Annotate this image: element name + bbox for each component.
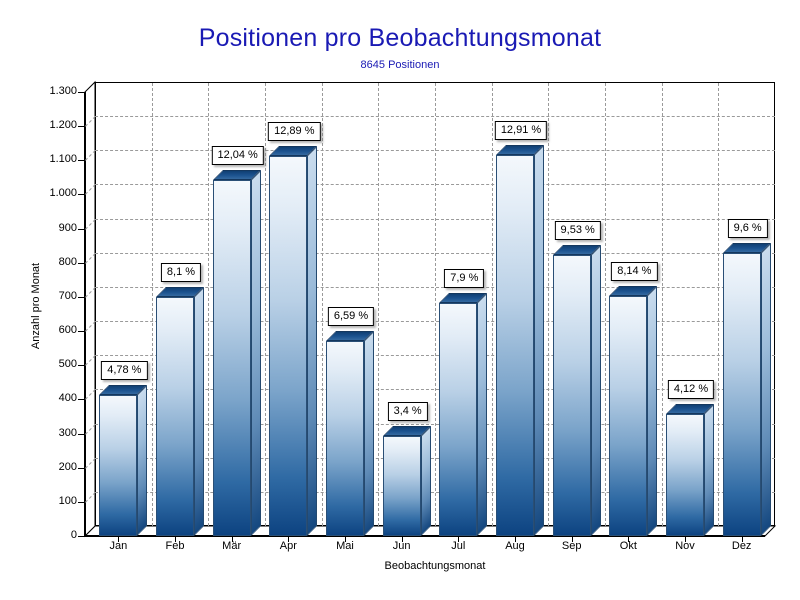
- bar-side-face: [534, 145, 544, 536]
- x-axis-tick-mark: [628, 537, 629, 542]
- bar[interactable]: [99, 395, 137, 536]
- y-axis-tick-mark: [78, 263, 85, 264]
- y-axis-tick-mark: [78, 536, 85, 537]
- x-axis-tick-mark: [685, 537, 686, 542]
- bar-side-face: [591, 245, 601, 536]
- y-axis-tick-mark: [78, 160, 85, 161]
- bar[interactable]: [156, 297, 194, 536]
- y-axis-tick-mark: [78, 468, 85, 469]
- bar-side-face: [364, 331, 374, 536]
- y-axis-tick-mark: [78, 92, 85, 93]
- y-axis-tick-mark: [78, 194, 85, 195]
- x-axis-tick-mark: [458, 537, 459, 542]
- bar-value-label: 8,1 %: [161, 263, 201, 282]
- bar-side-face: [307, 146, 317, 536]
- plot-area: 01002003004005006007008009001.0001.1001.…: [0, 0, 800, 600]
- bar-value-label: 9,6 %: [728, 219, 768, 238]
- bar-front-face: [439, 303, 477, 536]
- y-axis-tick-mark: [78, 331, 85, 332]
- bar-value-label: 9,53 %: [555, 221, 601, 240]
- y-axis-tick-label: 0: [25, 529, 77, 541]
- y-axis-tick-label: 1.000: [25, 187, 77, 199]
- bar[interactable]: [269, 156, 307, 536]
- y-axis-tick-label: 600: [25, 324, 77, 336]
- bar[interactable]: [213, 180, 251, 536]
- bar-front-face: [666, 414, 704, 536]
- y-axis-tick-mark: [78, 434, 85, 435]
- bar-front-face: [383, 436, 421, 536]
- bar[interactable]: [723, 253, 761, 536]
- gridline-vertical: [322, 83, 323, 526]
- bar-front-face: [723, 253, 761, 536]
- bar-front-face: [213, 180, 251, 536]
- bar-side-face: [761, 243, 771, 536]
- bar-side-face: [647, 286, 657, 536]
- y-axis-tick-label: 1.100: [25, 153, 77, 165]
- bar[interactable]: [553, 255, 591, 536]
- gridline-vertical: [378, 83, 379, 526]
- gridline-vertical: [662, 83, 663, 526]
- y-axis-tick-mark: [78, 297, 85, 298]
- bar-front-face: [609, 296, 647, 536]
- bar-value-label: 8,14 %: [611, 262, 657, 281]
- y-axis-tick-label: 1.300: [25, 85, 77, 97]
- bar-value-label: 12,04 %: [211, 146, 263, 165]
- y-axis-tick-label: 200: [25, 461, 77, 473]
- bar-front-face: [326, 341, 364, 536]
- y-axis-tick-label: 400: [25, 392, 77, 404]
- y-axis-tick-label: 800: [25, 256, 77, 268]
- y-axis-tick-mark: [78, 365, 85, 366]
- bar-front-face: [553, 255, 591, 536]
- y-axis-tick-mark: [78, 126, 85, 127]
- bar[interactable]: [439, 303, 477, 536]
- gridline-vertical: [548, 83, 549, 526]
- y-axis-tick-label: 900: [25, 222, 77, 234]
- x-axis-tick-mark: [515, 537, 516, 542]
- gridline-vertical: [492, 83, 493, 526]
- x-axis-tick-mark: [345, 537, 346, 542]
- chart-container: Positionen pro Beobachtungsmonat 8645 Po…: [0, 0, 800, 600]
- x-axis-tick-mark: [742, 537, 743, 542]
- bar-front-face: [99, 395, 137, 536]
- bar-front-face: [496, 155, 534, 536]
- y-axis-tick-label: 700: [25, 290, 77, 302]
- y-axis-tick-mark: [78, 502, 85, 503]
- y-axis-tick-label: 500: [25, 358, 77, 370]
- bar-side-face: [194, 287, 204, 536]
- x-axis-tick-mark: [288, 537, 289, 542]
- gridline-vertical: [208, 83, 209, 526]
- bar-value-label: 7,9 %: [444, 269, 484, 288]
- gridline-vertical: [152, 83, 153, 526]
- gridline-vertical: [435, 83, 436, 526]
- gridline-vertical: [605, 83, 606, 526]
- y-axis-tick-mark: [78, 229, 85, 230]
- bar-value-label: 4,12 %: [668, 380, 714, 399]
- bar[interactable]: [496, 155, 534, 536]
- bar[interactable]: [666, 414, 704, 536]
- bar[interactable]: [326, 341, 364, 536]
- x-axis-tick-mark: [175, 537, 176, 542]
- x-axis-tick-mark: [402, 537, 403, 542]
- bar-side-face: [704, 404, 714, 536]
- y-axis-tick-label: 100: [25, 495, 77, 507]
- bar-value-label: 6,59 %: [328, 307, 374, 326]
- bar-side-face: [477, 293, 487, 536]
- bar-value-label: 3,4 %: [388, 402, 428, 421]
- bar-side-face: [421, 426, 431, 536]
- bar-side-face: [137, 385, 147, 536]
- bar-front-face: [156, 297, 194, 536]
- bar[interactable]: [383, 436, 421, 536]
- bar-front-face: [269, 156, 307, 536]
- y-axis-tick-label: 300: [25, 427, 77, 439]
- y-axis-tick-label: 1.200: [25, 119, 77, 131]
- gridline-vertical: [265, 83, 266, 526]
- x-axis-tick-mark: [232, 537, 233, 542]
- bar-value-label: 4,78 %: [101, 361, 147, 380]
- bar-value-label: 12,91 %: [495, 121, 547, 140]
- x-axis-tick-mark: [572, 537, 573, 542]
- bar-side-face: [251, 170, 261, 536]
- bar-value-label: 12,89 %: [268, 122, 320, 141]
- y-axis-tick-mark: [78, 399, 85, 400]
- gridline-vertical: [718, 83, 719, 526]
- x-axis-tick-mark: [118, 537, 119, 542]
- bar[interactable]: [609, 296, 647, 536]
